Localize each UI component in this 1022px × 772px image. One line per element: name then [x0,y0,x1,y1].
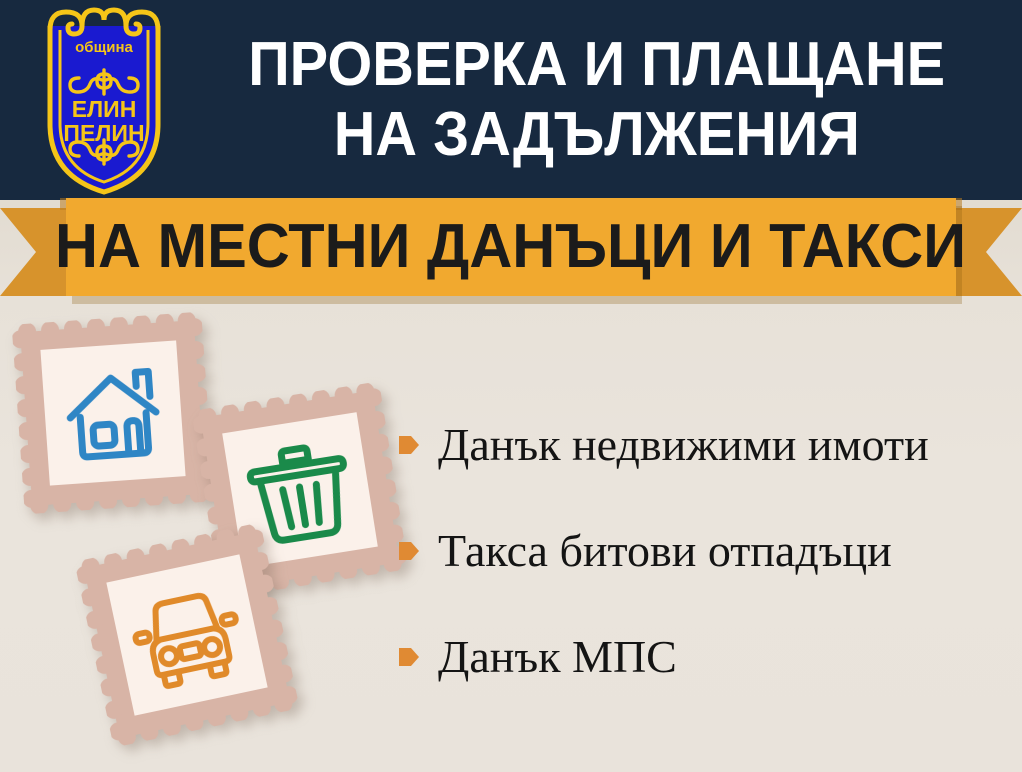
list-item-label: Данък недвижими имоти [438,420,929,470]
subtitle-ribbon: НА МЕСТНИ ДАНЪЦИ И ТАКСИ [0,198,1022,302]
stamp-card-car [74,522,299,747]
title-line-1: ПРОВЕРКА И ПЛАЩАНЕ [249,30,946,100]
header-bar: община ЕЛИН ПЕЛИН ПРОВЕРКА И ПЛАЩАНЕ НА … [0,0,1022,200]
ribbon-label: НА МЕСТНИ ДАНЪЦИ И ТАКСИ [55,216,966,278]
poster-canvas: община ЕЛИН ПЕЛИН ПРОВЕРКА И ПЛАЩАНЕ НА … [0,0,1022,772]
arrow-bullet-icon [398,432,420,458]
tax-types-list: Данък недвижими имоти Такса битови отпад… [398,420,1008,682]
list-item[interactable]: Данък МПС [398,632,1008,682]
municipality-logo: община ЕЛИН ПЕЛИН [24,4,184,196]
list-item-label: Данък МПС [438,632,677,682]
logo-line-one: ЕЛИН [72,96,137,122]
page-title: ПРОВЕРКА И ПЛАЩАНЕ НА ЗАДЪЛЖЕНИЯ [192,16,1002,184]
ribbon-band: НА МЕСТНИ ДАНЪЦИ И ТАКСИ [66,198,956,296]
logo-line-two: ПЕЛИН [63,120,144,146]
logo-small-label: община [75,39,133,56]
arrow-bullet-icon [398,538,420,564]
list-item[interactable]: Данък недвижими имоти [398,420,1008,470]
title-line-2: НА ЗАДЪЛЖЕНИЯ [334,100,860,170]
list-item[interactable]: Такса битови отпадъци [398,526,1008,576]
list-item-label: Такса битови отпадъци [438,526,892,576]
arrow-bullet-icon [398,644,420,670]
stamp-card-house [12,312,215,515]
